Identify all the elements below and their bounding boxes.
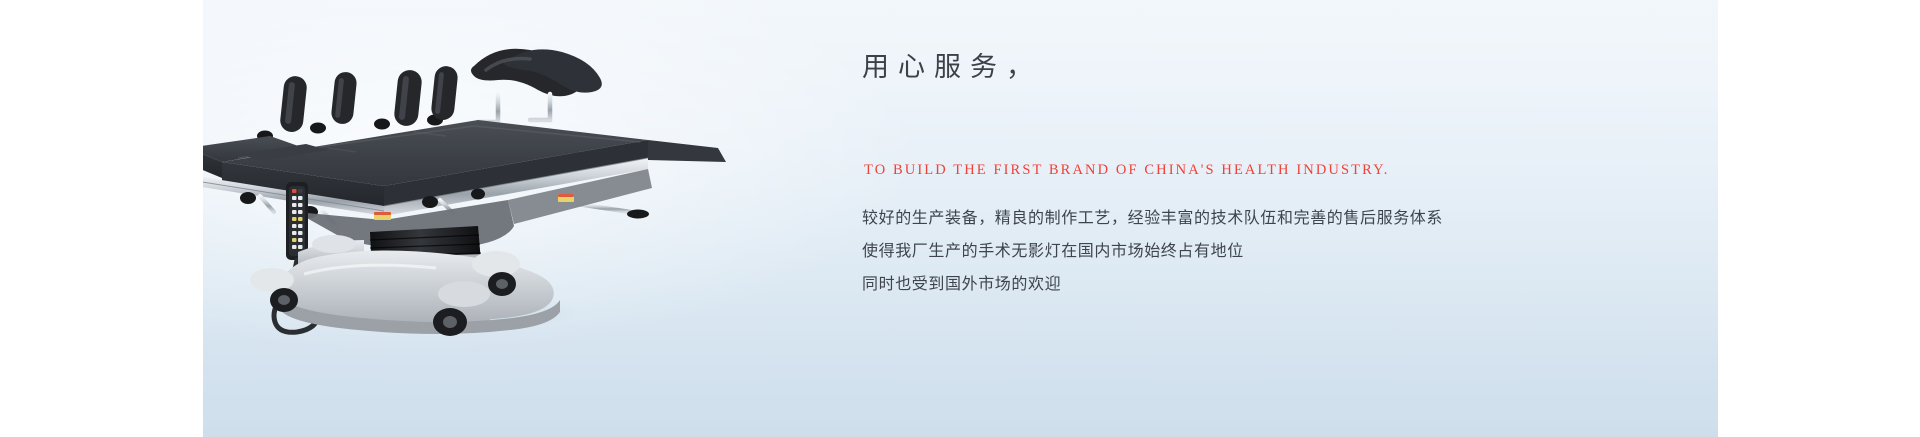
banner-copy-block: 用心服务， TO BUILD THE FIRST BRAND OF CHINA'… [862,0,1682,437]
banner-panel: 用心服务， TO BUILD THE FIRST BRAND OF CHINA'… [203,0,1718,437]
banner-english-tagline: TO BUILD THE FIRST BRAND OF CHINA'S HEAL… [864,160,1390,180]
paragraph-line-3: 同时也受到国外市场的欢迎 [862,268,1662,301]
promo-banner: 用心服务， TO BUILD THE FIRST BRAND OF CHINA'… [0,0,1920,437]
surgical-table-illustration [203,36,738,336]
banner-paragraph: 较好的生产装备，精良的制作工艺，经验丰富的技术队伍和完善的售后服务体系 使得我厂… [862,202,1662,301]
paragraph-line-1: 较好的生产装备，精良的制作工艺，经验丰富的技术队伍和完善的售后服务体系 [862,202,1662,235]
banner-headline: 用心服务， [862,50,1042,84]
paragraph-line-2: 使得我厂生产的手术无影灯在国内市场始终占有地位 [862,235,1662,268]
product-image-surgical-operating-table [203,36,738,336]
